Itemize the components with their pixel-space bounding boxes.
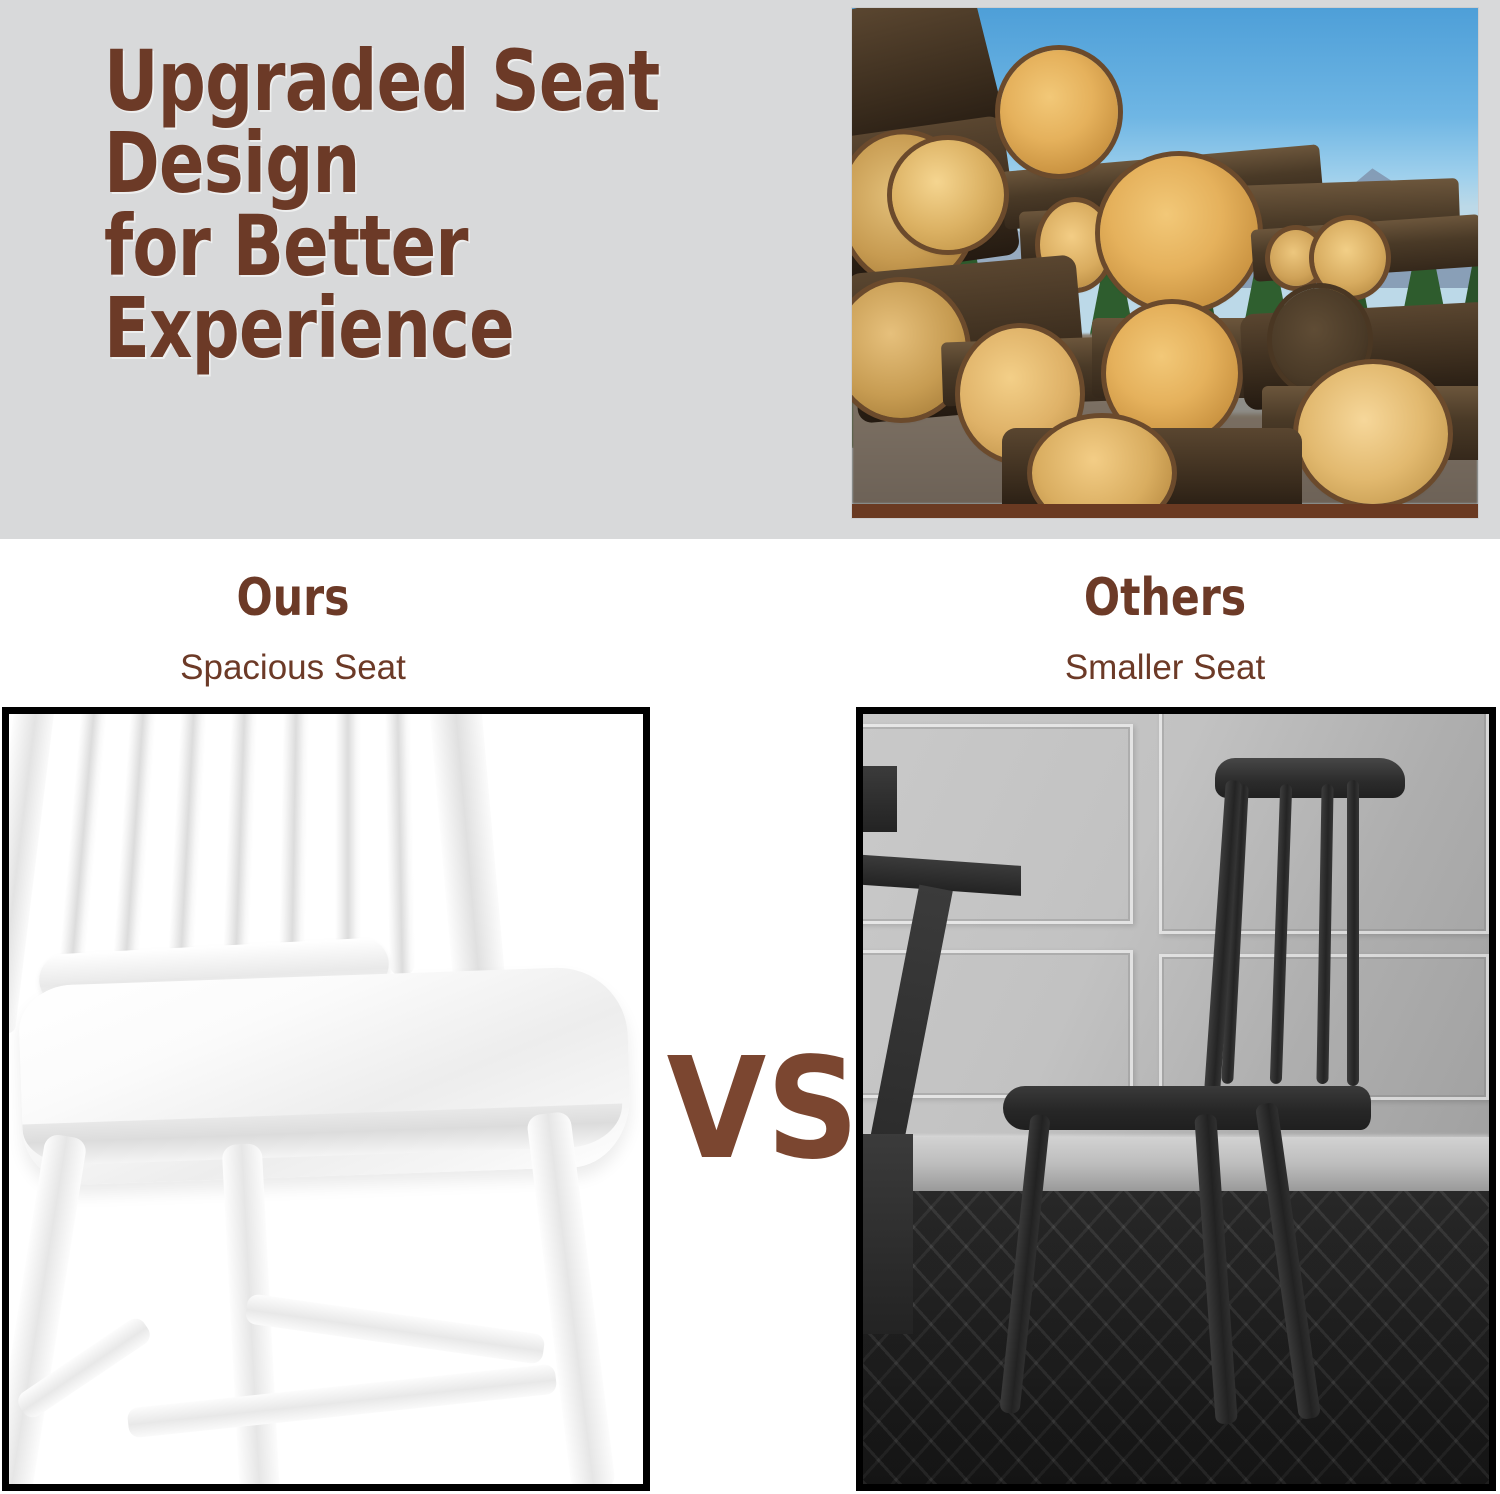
wall-baseboard [863, 1137, 1489, 1191]
table-edge-top [856, 766, 897, 832]
herringbone-floor [863, 1191, 1489, 1484]
others-subtitle: Smaller Seat [1005, 648, 1325, 688]
ours-image-panel [2, 707, 650, 1491]
chair-stretcher-upper [244, 1293, 545, 1364]
logs-photo-image [852, 8, 1478, 504]
ours-subtitle: Spacious Seat [133, 648, 453, 688]
chair-spindle [335, 707, 361, 972]
header-band: Upgraded Seat Design for Better Experien… [0, 0, 1500, 539]
chair-spindle [279, 707, 310, 972]
chair-leg-rear-right [526, 1111, 616, 1491]
chair-spindle [167, 707, 207, 980]
others-image-panel [856, 707, 1496, 1491]
ours-title: Ours [162, 568, 424, 628]
log-pile [852, 8, 1478, 504]
chair-spindle [222, 707, 257, 976]
chair-seat-surface [1003, 1086, 1371, 1130]
table-leg-rear [856, 1134, 913, 1334]
chair-back-post-right [429, 707, 506, 990]
vs-label: VS [667, 1040, 842, 1180]
chair-spindle [111, 707, 157, 987]
stacked-logs-photo [852, 8, 1478, 518]
chair-spindle [385, 707, 416, 976]
page-headline: Upgraded Seat Design for Better Experien… [104, 40, 680, 369]
black-chair-room-photo [863, 714, 1489, 1484]
chair-spindle [1347, 780, 1359, 1086]
photo-bottom-border [852, 504, 1478, 518]
white-windsor-chair-closeup [9, 714, 643, 1484]
others-title: Others [1034, 568, 1296, 628]
chair-stretcher-lower [127, 1364, 558, 1439]
chair-leg-front-left [2, 1133, 88, 1491]
